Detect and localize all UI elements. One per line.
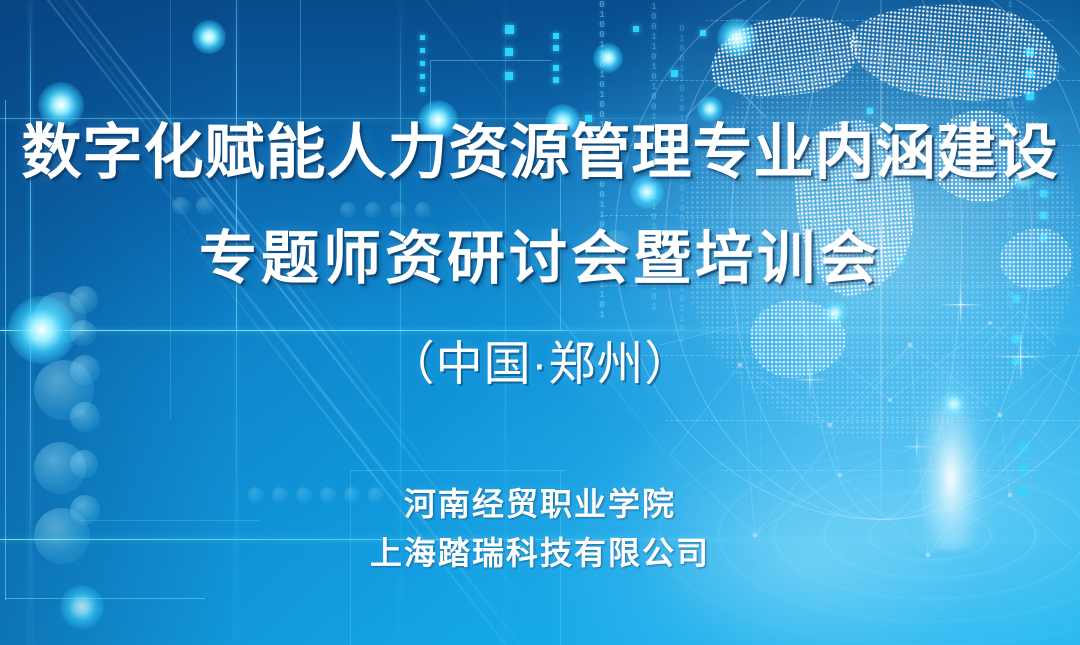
location-subtitle: （中国·郑州）: [388, 340, 693, 387]
title-line-1: 数字化赋能人力资源管理专业内涵建设: [22, 123, 1059, 183]
title-line-2: 专题师资研讨会暨培训会: [199, 230, 881, 288]
organizer-line-1: 河南经贸职业学院: [404, 488, 676, 520]
conference-banner: 01001101010011010100110101001101 0100110…: [0, 0, 1080, 645]
banner-content: 数字化赋能人力资源管理专业内涵建设 专题师资研讨会暨培训会 （中国·郑州） 河南…: [0, 0, 1080, 645]
organizer-line-2: 上海踏瑞科技有限公司: [370, 537, 710, 569]
